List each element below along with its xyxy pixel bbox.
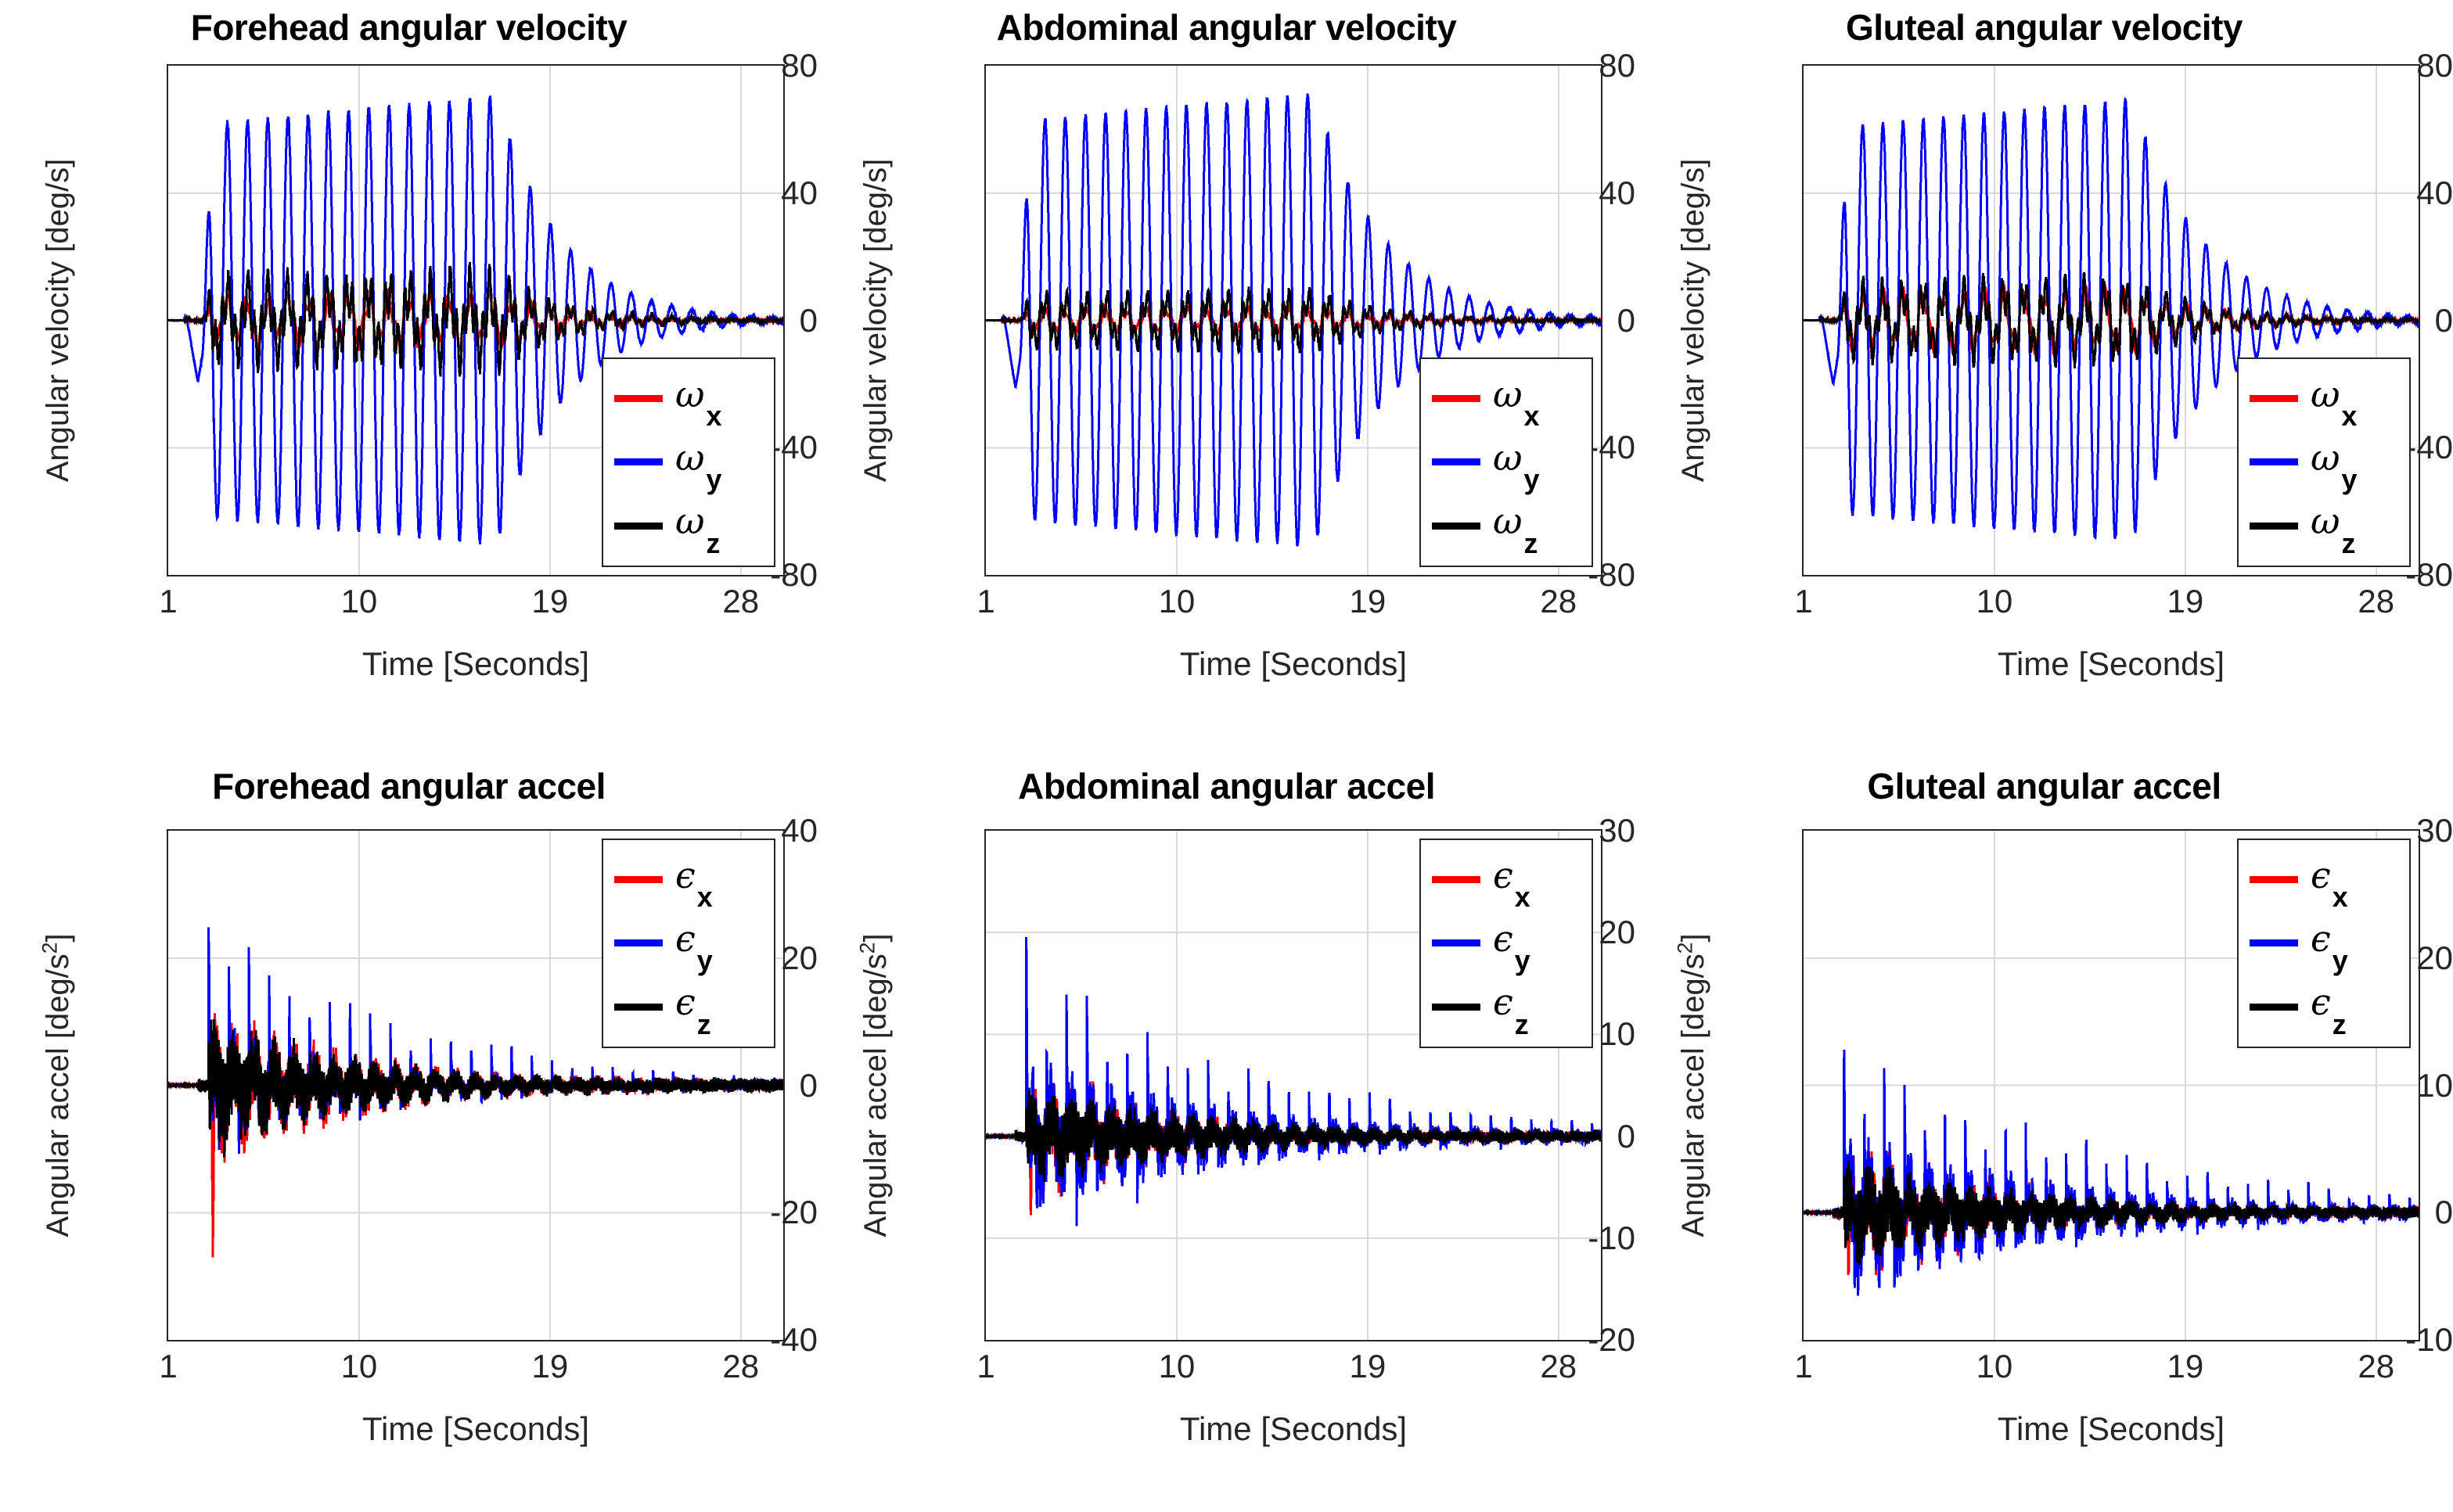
legend-label-e_y: ϵy [675,918,711,960]
x-tick-label: 1 [1794,1348,1812,1385]
legend-label-w_y: ωy [2311,436,2355,479]
legend-label-w_z: ωz [675,500,718,542]
x-axis-label: Time [Seconds] [1802,645,2420,683]
legend-item-e_x: ϵx [1421,848,1592,911]
y-tick-label: -20 [662,1194,818,1231]
x-axis-label: Time [Seconds] [984,1410,1602,1448]
y-tick-label: 80 [1480,47,1635,84]
subplot-abdominal-angular-accel: Abdominal angular accelAngular accel [de… [818,751,1635,1512]
legend: ϵxϵyϵz [602,839,775,1048]
legend-item-w_x: ωx [603,367,774,430]
legend-item-e_x: ϵx [603,848,774,911]
legend-item-w_x: ωx [1421,367,1592,430]
y-axis-label: Angular accel [deg/s2] [1676,829,1711,1341]
x-tick-label: 28 [722,1348,759,1385]
legend-label-w_y: ωy [675,436,720,479]
legend-label-e_x: ϵx [2311,854,2347,896]
legend-label-e_y: ϵy [1493,918,1529,960]
x-tick-label: 10 [1976,1348,2013,1385]
y-tick-label: 80 [662,47,818,84]
legend-swatch-w_x [2250,395,2298,402]
y-axis-label: Angular velocity [deg/s] [1676,64,1711,576]
y-axis-label: Angular velocity [deg/s] [858,64,894,576]
x-tick-label: 19 [532,1348,569,1385]
x-tick-label: 28 [722,583,759,620]
legend-label-w_x: ωx [1493,373,1538,415]
x-tick-label: 1 [159,583,177,620]
x-tick-label: 19 [2167,583,2204,620]
legend: ϵxϵyϵz [2237,839,2411,1048]
legend-item-e_y: ϵy [2239,911,2409,975]
subplot-title: Abdominal angular accel [818,765,1635,807]
x-tick-label: 28 [2358,583,2394,620]
subplot-title: Gluteal angular velocity [1635,6,2453,48]
y-tick-label: 80 [2297,47,2453,84]
legend-swatch-e_y [1432,939,1480,946]
x-tick-label: 19 [1350,1348,1387,1385]
legend-item-e_z: ϵz [1421,975,1592,1039]
y-tick-label: 40 [2297,174,2453,212]
legend-label-w_x: ωx [675,373,720,415]
legend-swatch-w_y [2250,458,2298,465]
legend-item-e_y: ϵy [603,911,774,975]
x-tick-label: 1 [159,1348,177,1385]
legend-label-e_z: ϵz [2311,981,2345,1023]
legend-swatch-e_x [614,876,663,883]
legend-item-w_z: ωz [2239,494,2409,558]
legend-item-w_z: ωz [1421,494,1592,558]
legend: ωxωyωz [602,357,775,567]
legend-item-w_y: ωy [1421,430,1592,494]
subplot-forehead-angular-velocity: Forehead angular velocityAngular velocit… [0,0,818,751]
legend-swatch-e_y [614,939,663,946]
x-tick-label: 28 [1540,583,1577,620]
legend-item-e_z: ϵz [2239,975,2409,1039]
legend: ωxωyωz [2237,357,2411,567]
x-tick-label: 10 [341,583,378,620]
legend-swatch-e_z [1432,1004,1480,1011]
figure-grid: Forehead angular velocityAngular velocit… [0,0,2453,1512]
legend-item-e_x: ϵx [2239,848,2409,911]
y-tick-label: 10 [2297,1067,2453,1104]
legend-swatch-e_x [2250,876,2298,883]
legend-swatch-w_y [1432,458,1480,465]
subplot-gluteal-angular-accel: Gluteal angular accelAngular accel [deg/… [1635,751,2453,1512]
x-tick-label: 10 [1976,583,2013,620]
y-tick-label: 0 [662,302,818,339]
legend-item-w_y: ωy [2239,430,2409,494]
x-tick-label: 1 [977,583,995,620]
legend-label-w_z: ωz [2311,500,2354,542]
subplot-title: Gluteal angular accel [1635,765,2453,807]
subplot-forehead-angular-accel: Forehead angular accelAngular accel [deg… [0,751,818,1512]
legend: ϵxϵyϵz [1419,839,1593,1048]
subplot-title: Forehead angular velocity [0,6,818,48]
y-tick-label: 0 [1480,1118,1635,1155]
y-axis-label: Angular accel [deg/s2] [858,829,894,1341]
legend-swatch-e_z [614,1004,663,1011]
legend-label-e_x: ϵx [1493,854,1529,896]
legend-swatch-e_z [2250,1004,2298,1011]
y-tick-label: 0 [662,1067,818,1104]
legend-label-e_z: ϵz [1493,981,1527,1023]
legend-swatch-w_z [1432,523,1480,530]
legend-swatch-e_y [2250,939,2298,946]
x-tick-label: 19 [532,583,569,620]
x-axis-label: Time [Seconds] [167,1410,785,1448]
x-tick-label: 19 [1350,583,1387,620]
legend-label-w_x: ωx [2311,373,2355,415]
legend-label-e_z: ϵz [675,981,710,1023]
x-tick-label: 10 [341,1348,378,1385]
x-tick-label: 10 [1159,1348,1196,1385]
legend-label-e_x: ϵx [675,854,711,896]
y-tick-label: 40 [1480,174,1635,212]
y-tick-label: -10 [1480,1219,1635,1257]
x-tick-label: 28 [1540,1348,1577,1385]
legend-swatch-w_z [614,523,663,530]
legend-label-w_y: ωy [1493,436,1538,479]
subplot-title: Abdominal angular velocity [818,6,1635,48]
legend-swatch-w_x [1432,395,1480,402]
y-axis-label: Angular velocity [deg/s] [41,64,76,576]
y-tick-label: 40 [662,174,818,212]
legend-label-e_y: ϵy [2311,918,2347,960]
y-tick-label: 0 [2297,302,2453,339]
legend-label-w_z: ωz [1493,500,1536,542]
subplot-title: Forehead angular accel [0,765,818,807]
x-tick-label: 19 [2167,1348,2204,1385]
x-tick-label: 1 [1794,583,1812,620]
legend-item-e_z: ϵz [603,975,774,1039]
legend-swatch-w_z [2250,523,2298,530]
legend-item-w_x: ωx [2239,367,2409,430]
y-tick-label: 0 [1480,302,1635,339]
x-axis-label: Time [Seconds] [1802,1410,2420,1448]
legend-swatch-w_y [614,458,663,465]
x-axis-label: Time [Seconds] [984,645,1602,683]
subplot-abdominal-angular-velocity: Abdominal angular velocityAngular veloci… [818,0,1635,751]
subplot-gluteal-angular-velocity: Gluteal angular velocityAngular velocity… [1635,0,2453,751]
x-axis-label: Time [Seconds] [167,645,785,683]
x-tick-label: 10 [1159,583,1196,620]
legend-item-w_z: ωz [603,494,774,558]
legend-item-e_y: ϵy [1421,911,1592,975]
legend-item-w_y: ωy [603,430,774,494]
legend-swatch-e_x [1432,876,1480,883]
legend: ωxωyωz [1419,357,1593,567]
legend-swatch-w_x [614,395,663,402]
x-tick-label: 28 [2358,1348,2394,1385]
x-tick-label: 1 [977,1348,995,1385]
y-axis-label: Angular accel [deg/s2] [41,829,76,1341]
y-tick-label: 0 [2297,1194,2453,1231]
